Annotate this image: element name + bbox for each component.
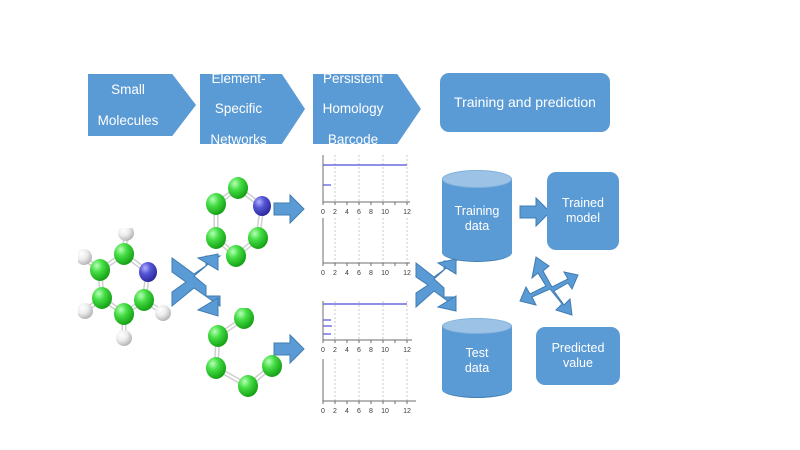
barcode-bars [323, 165, 407, 185]
cylinder-top-ellipse [442, 318, 512, 334]
line: data [465, 219, 489, 233]
arrow-network-c-to-barcode [272, 333, 306, 365]
pipeline-step-small-molecules-label: Small Molecules [98, 82, 187, 127]
arrow-network-cn-to-barcode [272, 193, 306, 225]
line: Small [98, 82, 173, 97]
element-network-carbon-nitrogen [204, 176, 280, 270]
carbon-atom [114, 243, 134, 265]
axes [323, 359, 416, 401]
carbon-atom [134, 289, 154, 311]
pipeline-step-element-specific-networks-label: Element- Specific Networks [210, 71, 294, 147]
arrow-model-three-way [508, 253, 580, 321]
nitrogen-atom [253, 196, 271, 216]
line: Molecules [98, 113, 173, 128]
x-tick-labels: 0 2 4 6 8 10 12 [321, 347, 411, 354]
svg-text:8: 8 [369, 347, 373, 354]
gridlines [335, 359, 407, 401]
svg-text:6: 6 [357, 408, 361, 415]
svg-text:0: 0 [321, 347, 325, 354]
carbon-atom [208, 325, 228, 347]
axes [323, 218, 410, 263]
barcode-plot-c-betti0: 0 2 4 6 8 10 12 [306, 298, 418, 358]
trained-model-box[interactable]: Trained model [547, 172, 619, 250]
carbon-atom [234, 308, 254, 329]
svg-text:10: 10 [381, 408, 389, 415]
svg-text:4: 4 [345, 408, 349, 415]
nitrogen-atom [139, 262, 157, 282]
carbon-atom [248, 227, 268, 249]
svg-text:6: 6 [357, 347, 361, 354]
svg-text:4: 4 [345, 347, 349, 354]
carbon-atom [92, 287, 112, 309]
cylinder-top-ellipse [442, 170, 512, 188]
svg-text:0: 0 [321, 270, 325, 277]
training-data-label: Training data [442, 204, 512, 234]
barcode-plot-c-betti1: 0 2 4 6 8 10 12 [306, 355, 422, 419]
carbon-atom [206, 227, 226, 249]
gridlines [335, 155, 407, 202]
x-tick-labels: 0 2 4 6 8 10 12 [321, 408, 411, 415]
axes [323, 155, 410, 202]
carbon-atom [226, 245, 246, 267]
line: Element- [210, 71, 280, 86]
line: Test [466, 346, 489, 360]
svg-text:0: 0 [321, 408, 325, 415]
carbon-atom [206, 193, 226, 215]
axes [323, 301, 412, 340]
barcode-plot-cn-betti0: 0 2 4 6 8 10 12 [306, 152, 416, 220]
line: Barcode [323, 132, 398, 147]
pipeline-step-element-specific-networks[interactable]: Element- Specific Networks [200, 74, 305, 144]
pipeline-step-persistent-homology-barcode-label: Persistent Homology Barcode [323, 71, 412, 147]
barcode-plot-cn-betti1: 0 2 4 6 8 10 12 [306, 215, 416, 281]
carbon-atom [228, 177, 248, 199]
svg-text:10: 10 [381, 270, 389, 277]
svg-text:2: 2 [333, 408, 337, 415]
hydrogen-atom [118, 228, 134, 241]
svg-text:2: 2 [333, 270, 337, 277]
line: Predicted [552, 341, 605, 355]
line: Homology [323, 101, 398, 116]
x-tick-labels: 0 2 4 6 8 10 12 [321, 270, 411, 277]
hydrogen-atom [116, 330, 132, 346]
training-and-prediction-label: Training and prediction [454, 94, 596, 111]
gridlines [335, 301, 407, 340]
svg-text:6: 6 [357, 270, 361, 277]
svg-text:4: 4 [345, 270, 349, 277]
pyridine-molecule [78, 228, 174, 348]
test-data-label: Test data [442, 346, 512, 376]
diagram-canvas: Small Molecules Element- Specific Networ… [0, 0, 800, 450]
carbon-atom [238, 375, 258, 397]
svg-text:12: 12 [403, 347, 411, 354]
carbon-atom [114, 303, 134, 325]
svg-text:12: 12 [403, 408, 411, 415]
svg-text:2: 2 [333, 347, 337, 354]
carbon-atom [206, 357, 226, 379]
line: Training [455, 204, 500, 218]
training-and-prediction-banner[interactable]: Training and prediction [440, 73, 610, 132]
gridlines [335, 218, 407, 263]
line: data [465, 361, 489, 375]
barcode-bars [323, 304, 407, 334]
line: Specific [210, 101, 280, 116]
line: Persistent [323, 71, 398, 86]
pipeline-step-persistent-homology-barcode[interactable]: Persistent Homology Barcode [313, 74, 421, 144]
svg-text:8: 8 [369, 408, 373, 415]
trained-model-label: Trained model [562, 196, 604, 226]
svg-text:12: 12 [403, 270, 411, 277]
line: value [563, 356, 593, 370]
training-data-cylinder[interactable]: Training data [442, 170, 512, 262]
predicted-value-box[interactable]: Predicted value [536, 327, 620, 385]
predicted-value-label: Predicted value [552, 341, 605, 371]
svg-text:10: 10 [381, 347, 389, 354]
carbon-atom [90, 259, 110, 281]
line: model [566, 211, 600, 225]
test-data-cylinder[interactable]: Test data [442, 318, 512, 398]
pipeline-step-small-molecules[interactable]: Small Molecules [88, 74, 196, 136]
arrow-barcodes-to-data [412, 257, 460, 313]
line: Networks [210, 132, 280, 147]
line: Trained [562, 196, 604, 210]
svg-text:8: 8 [369, 270, 373, 277]
